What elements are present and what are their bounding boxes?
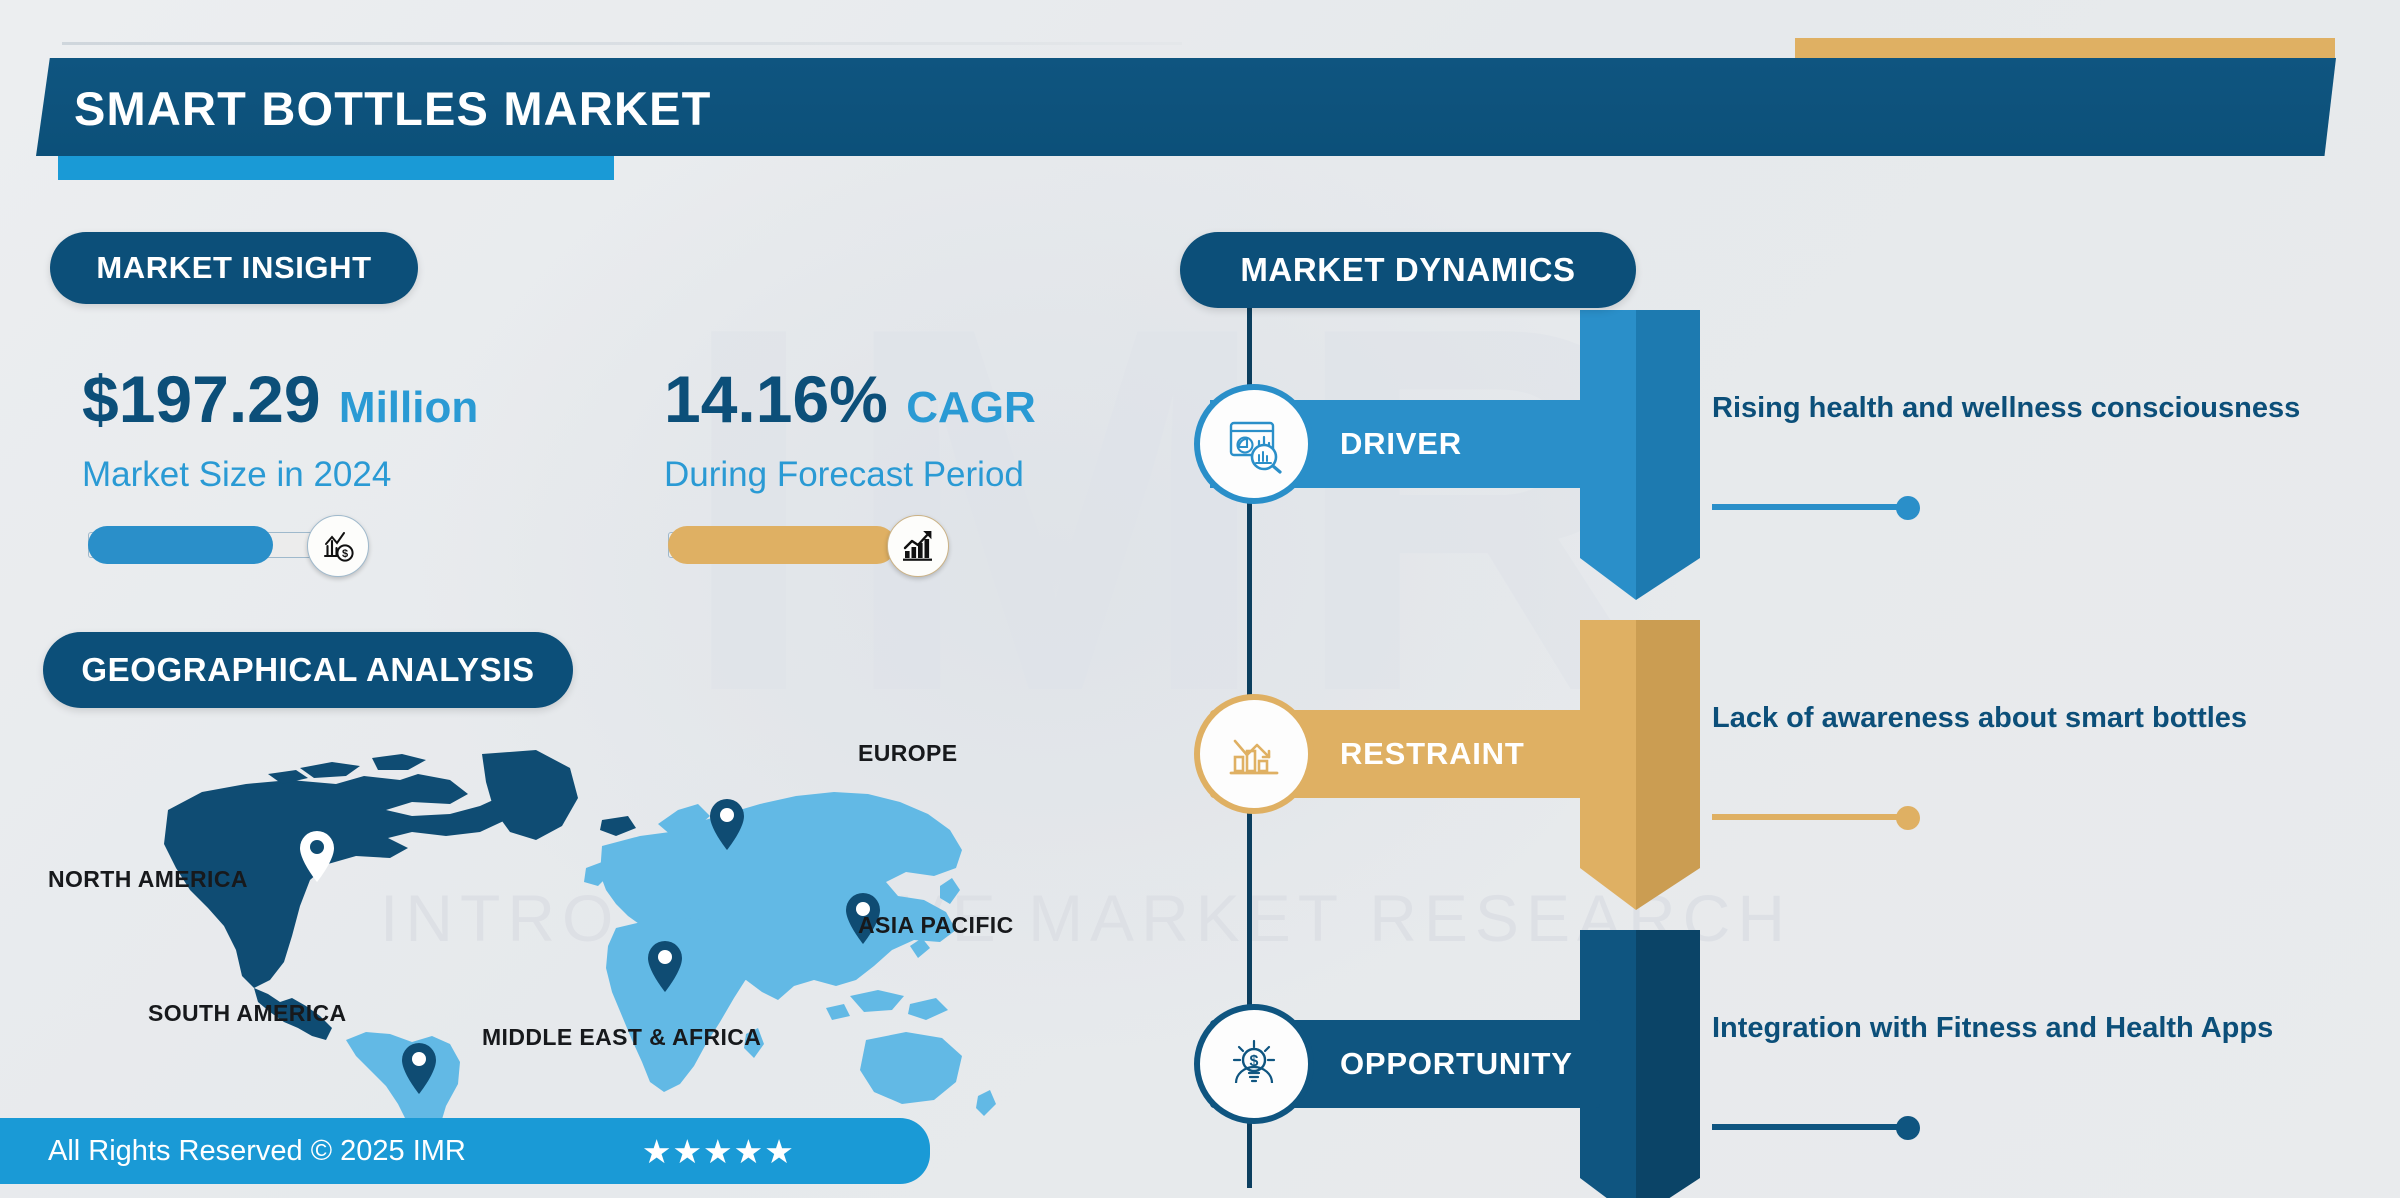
driver-label: DRIVER <box>1340 400 1462 488</box>
cagr-progress-fill <box>668 526 896 564</box>
geographical-analysis-heading: GEOGRAPHICAL ANALYSIS <box>43 632 573 708</box>
stat-cagr-value: 14.16% <box>664 362 888 436</box>
cagr-progress-bar <box>668 524 928 568</box>
stat-cagr-value-row: 14.16% CAGR <box>664 362 1184 445</box>
stat-cagr-caption: During Forecast Period <box>664 455 1184 495</box>
restraint-leader-line <box>1712 814 1912 820</box>
page-title: SMART BOTTLES MARKET <box>74 78 712 140</box>
restraint-label: RESTRAINT <box>1340 710 1525 798</box>
driver-description: Rising health and wellness consciousness <box>1712 382 2332 434</box>
infographic-canvas: IMR INTROSPECTIVE MARKET RESEARCH SMART … <box>0 0 2400 1198</box>
opportunity-description: Integration with Fitness and Health Apps <box>1712 1002 2332 1054</box>
driver-leader-dot <box>1896 496 1920 520</box>
stat-market-size-value: $197.29 <box>82 362 321 436</box>
world-map <box>150 740 1010 1160</box>
header-gold-accent-bar <box>1795 38 2335 60</box>
market-size-progress-bar: $ <box>88 524 348 568</box>
market-insight-heading: MARKET INSIGHT <box>50 232 418 304</box>
driver-leader-line <box>1712 504 1912 510</box>
market-dynamics-panel: DRIVER Rising health and wellness consci… <box>1180 232 2400 1198</box>
geo-label-asia-pacific: ASIA PACIFIC <box>858 912 1014 939</box>
stat-market-size-unit: Million <box>339 383 478 432</box>
dashboard-magnifier-icon <box>1194 384 1314 504</box>
opportunity-label: OPPORTUNITY <box>1340 1020 1573 1108</box>
dynamics-row-opportunity: $ OPPORTUNITY <box>1180 952 2400 1198</box>
lightbulb-dollar-icon: $ <box>1194 1004 1314 1124</box>
market-dynamics-heading: MARKET DYNAMICS <box>1180 232 1636 308</box>
geo-label-north-america: NORTH AMERICA <box>48 866 248 893</box>
header-thin-rule <box>62 42 1182 45</box>
stat-market-size-value-row: $197.29 Million <box>82 362 602 445</box>
opportunity-leader-dot <box>1896 1116 1920 1140</box>
footer-copyright: All Rights Reserved © 2025 IMR <box>48 1135 466 1168</box>
footer-bar: All Rights Reserved © 2025 IMR ★★★★★ <box>0 1118 930 1184</box>
stat-cagr: 14.16% CAGR During Forecast Period <box>664 362 1184 495</box>
geo-label-europe: EUROPE <box>858 740 958 767</box>
opportunity-leader-line <box>1712 1124 1912 1130</box>
restraint-leader-dot <box>1896 806 1920 830</box>
restraint-description: Lack of awareness about smart bottles <box>1712 692 2332 744</box>
header-underline-bar <box>58 156 614 180</box>
svg-text:$: $ <box>342 548 348 560</box>
footer-rating-stars: ★★★★★ <box>642 1132 795 1171</box>
geo-label-south-america: SOUTH AMERICA <box>148 1000 347 1027</box>
market-size-progress-fill <box>88 526 273 564</box>
bar-chart-dollar-icon: $ <box>307 515 369 577</box>
declining-bar-chart-icon <box>1194 694 1314 814</box>
geo-label-middle-east-africa: MIDDLE EAST & AFRICA <box>482 1024 761 1051</box>
growth-chart-arrow-icon <box>887 515 949 577</box>
map-region-north-america <box>164 750 636 1040</box>
stat-market-size-caption: Market Size in 2024 <box>82 455 602 495</box>
stat-cagr-unit: CAGR <box>906 383 1036 432</box>
map-region-eurasia-africa <box>584 792 996 1116</box>
dynamics-row-restraint: RESTRAINT Lack of awareness about smart … <box>1180 642 2400 892</box>
dynamics-row-driver: DRIVER Rising health and wellness consci… <box>1180 332 2400 582</box>
stat-market-size: $197.29 Million Market Size in 2024 <box>82 362 602 495</box>
